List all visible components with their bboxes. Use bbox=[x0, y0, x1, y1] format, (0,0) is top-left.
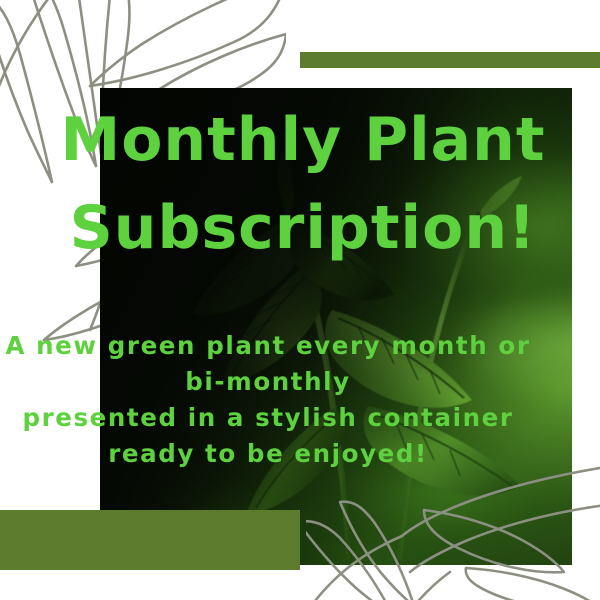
body-copy-line-2: bi-monthly bbox=[0, 364, 536, 400]
headline-line-2: Subscription! bbox=[58, 184, 548, 272]
body-copy-line-1: A new green plant every month or bbox=[0, 328, 536, 364]
poster-canvas: Monthly Plant Subscription! A new green … bbox=[0, 0, 600, 600]
body-copy: A new green plant every month or bi-mont… bbox=[0, 328, 536, 472]
olive-accent-bar-bottom bbox=[0, 510, 300, 570]
headline-line-1: Monthly Plant bbox=[58, 96, 548, 184]
headline: Monthly Plant Subscription! bbox=[58, 96, 548, 272]
body-copy-line-4: ready to be enjoyed! bbox=[0, 436, 536, 472]
body-copy-line-3: presented in a stylish container bbox=[0, 400, 536, 436]
olive-accent-bar-top bbox=[300, 52, 600, 68]
